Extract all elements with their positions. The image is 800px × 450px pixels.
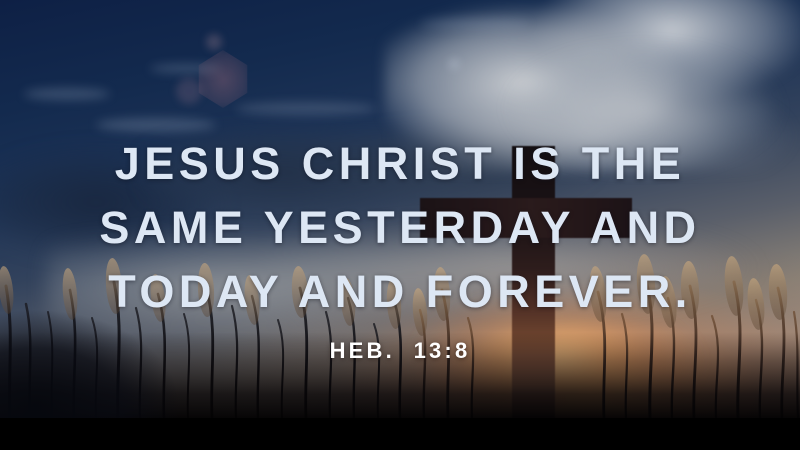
left-dark-foliage: [0, 268, 200, 418]
lens-flare-dot: [206, 34, 222, 50]
lens-flare-dot: [448, 58, 460, 70]
scripture-quote-image: JESUS CHRIST IS THE SAME YESTERDAY AND T…: [0, 0, 800, 450]
cloud-wisp: [236, 102, 376, 115]
cloud-wisp: [420, 18, 530, 29]
lens-flare-dot: [176, 78, 202, 104]
letterbox-bar: [0, 418, 800, 450]
cloud-wisp: [24, 88, 110, 100]
cumulus-cloud-far-right: [496, 18, 800, 198]
cloud-wisp: [96, 118, 216, 132]
